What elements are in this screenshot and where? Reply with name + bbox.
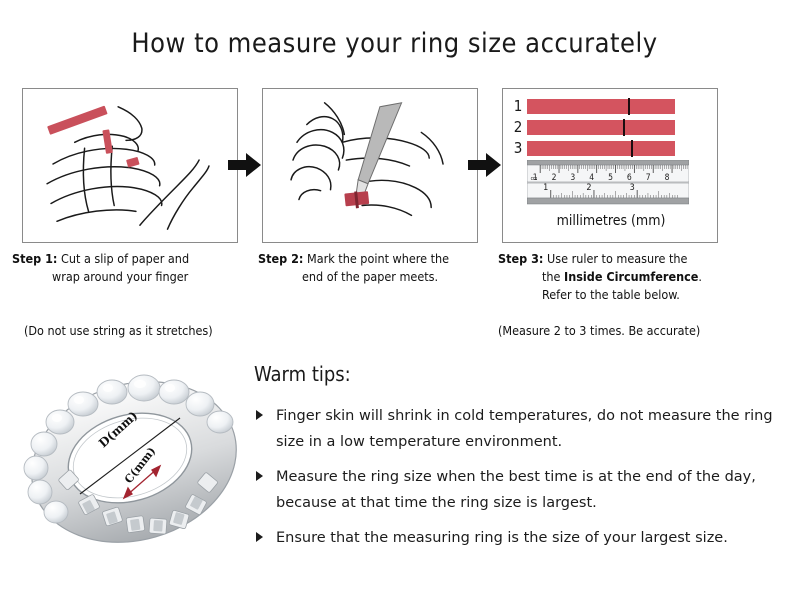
strip-row: 1 bbox=[509, 97, 675, 115]
strip-number: 2 bbox=[509, 118, 527, 136]
strip-number: 3 bbox=[509, 139, 527, 157]
step-2-panel bbox=[262, 88, 478, 243]
hand-marking-paper-with-pen-icon bbox=[263, 89, 477, 242]
tip-text: Measure the ring size when the best time… bbox=[276, 469, 756, 511]
strip-row: 2 bbox=[509, 118, 675, 136]
arrow-step2-to-step3 bbox=[468, 150, 502, 180]
step-1-panel bbox=[22, 88, 238, 243]
step-3-text-line1: Use ruler to measure the bbox=[547, 251, 687, 266]
warm-tips-section: Warm tips: Finger skin will shrink in co… bbox=[254, 362, 774, 560]
step-1-caption: Step 1: Cut a slip of paper and wrap aro… bbox=[12, 250, 262, 286]
step-1-text-line1: Cut a slip of paper and bbox=[61, 251, 189, 266]
step-1-text-line2: wrap around your finger bbox=[12, 268, 262, 286]
step-2-label: Step 2: bbox=[258, 251, 303, 266]
step-2-text-line2: end of the paper meets. bbox=[258, 268, 508, 286]
step-3-note: (Measure 2 to 3 times. Be accurate) bbox=[498, 322, 700, 340]
tip-text: Finger skin will shrink in cold temperat… bbox=[276, 408, 773, 450]
page-title: How to measure your ring size accurately bbox=[0, 28, 789, 59]
arrow-step1-to-step2 bbox=[228, 150, 262, 180]
step-3-text-line2-suffix: . bbox=[698, 269, 702, 284]
strip-row: 3 bbox=[509, 139, 675, 157]
strip-bar bbox=[527, 99, 675, 114]
svg-text:1: 1 bbox=[543, 183, 548, 193]
step-1-label: Step 1: bbox=[12, 251, 57, 266]
strip-mark bbox=[631, 140, 633, 157]
svg-text:2: 2 bbox=[552, 173, 557, 183]
step-3-panel: 1 2 3 12345678cm123 millimetres (mm bbox=[502, 88, 718, 243]
strip-bar bbox=[527, 120, 675, 135]
step-3-text-line3: Refer to the table below. bbox=[498, 286, 748, 304]
tip-item: Ensure that the measuring ring is the si… bbox=[254, 525, 774, 551]
step-captions-row: Step 1: Cut a slip of paper and wrap aro… bbox=[0, 250, 789, 345]
ruler-icon: 12345678cm123 bbox=[527, 160, 689, 206]
millimetres-caption: millimetres (mm) bbox=[503, 213, 718, 229]
triangle-bullet-icon bbox=[256, 532, 263, 542]
diamond-eternity-ring-photo bbox=[18, 352, 250, 567]
svg-text:7: 7 bbox=[646, 173, 651, 183]
svg-text:4: 4 bbox=[589, 173, 594, 183]
strip-number: 1 bbox=[509, 97, 527, 115]
hand-with-paper-strip-icon bbox=[23, 89, 237, 242]
step-3-text-line2-prefix: the bbox=[542, 269, 564, 284]
tip-item: Finger skin will shrink in cold temperat… bbox=[254, 403, 774, 455]
triangle-bullet-icon bbox=[256, 471, 263, 481]
strip-mark bbox=[628, 98, 630, 115]
step-1-note: (Do not use string as it stretches) bbox=[24, 322, 213, 340]
triangle-bullet-icon bbox=[256, 410, 263, 420]
svg-text:3: 3 bbox=[570, 173, 575, 183]
tip-item: Measure the ring size when the best time… bbox=[254, 464, 774, 516]
svg-text:3: 3 bbox=[630, 183, 635, 193]
step-2-text-line1: Mark the point where the bbox=[307, 251, 449, 266]
svg-text:5: 5 bbox=[608, 173, 613, 183]
step-3-caption: Step 3: Use ruler to measure the the Ins… bbox=[498, 250, 748, 304]
strip-bar bbox=[527, 141, 675, 156]
svg-text:6: 6 bbox=[627, 173, 632, 183]
warm-tips-heading: Warm tips: bbox=[254, 362, 774, 386]
steps-illustration-row: 1 2 3 12345678cm123 millimetres (mm bbox=[0, 88, 789, 248]
measured-strips-group: 1 2 3 bbox=[509, 97, 675, 160]
svg-text:cm: cm bbox=[531, 176, 538, 182]
strip-mark bbox=[623, 119, 625, 136]
tip-text: Ensure that the measuring ring is the si… bbox=[276, 530, 728, 546]
step-3-inside-circumference-emphasis: Inside Circumference bbox=[564, 269, 698, 284]
step-2-caption: Step 2: Mark the point where the end of … bbox=[258, 250, 508, 286]
svg-text:2: 2 bbox=[586, 183, 591, 193]
step-3-label: Step 3: bbox=[498, 251, 543, 266]
svg-text:8: 8 bbox=[665, 173, 670, 183]
